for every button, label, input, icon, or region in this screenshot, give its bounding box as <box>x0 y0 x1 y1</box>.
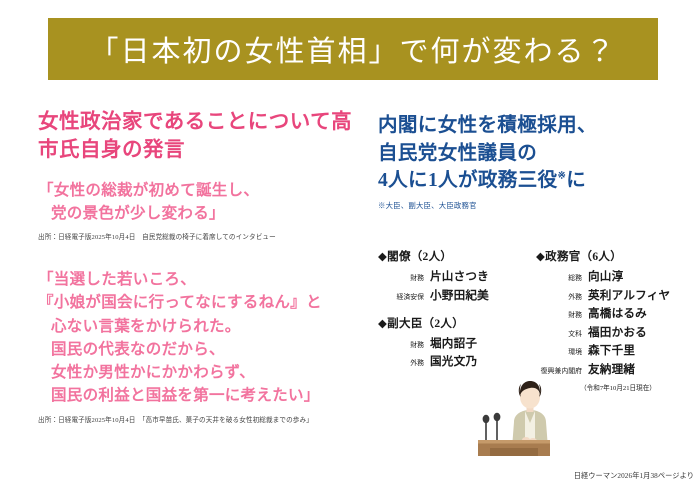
roster-row: 総務 向山淳 <box>536 268 686 284</box>
roster-row: 環境 森下千里 <box>536 342 686 358</box>
roster-group-deputy-ministers: ◆副大臣（2人） 財務 堀内詔子 外務 国光文乃 <box>378 315 528 370</box>
roster-name: 福田かおる <box>588 324 647 340</box>
right-heading-line-3: 4人に1人が政務三役※に <box>378 167 690 195</box>
right-heading-line-2: 自民党女性議員の <box>378 140 690 168</box>
infographic-page: 「日本初の女性首相」で何が変わる？ 女性政治家であることについて高市氏自身の発言… <box>0 0 700 495</box>
roster-group-cabinet-ministers: ◆閣僚（2人） 財務 片山さつき 経済安保 小野田紀美 <box>378 248 528 303</box>
roster-group-title: ◆政務官（6人） <box>536 248 686 264</box>
roster-ministry: 財務 <box>378 272 430 282</box>
roster-ministry: 復興兼内閣府 <box>536 365 588 375</box>
footnote-marker: ※ <box>558 171 567 182</box>
right-column-heading: 内閣に女性を積極採用、 自民党女性議員の 4人に1人が政務三役※に <box>378 112 690 195</box>
quote-2-line-2: 『小娘が国会に行ってなにするねん』と <box>38 291 368 314</box>
quote-2-line-3: 心ない言葉をかけられた。 <box>38 315 368 338</box>
woman-at-podium-illustration <box>470 378 590 462</box>
roster-row: 文科 福田かおる <box>536 324 686 340</box>
roster-name: 小野田紀美 <box>430 287 489 303</box>
right-heading-line-3-tail: に <box>566 170 586 191</box>
left-column-heading: 女性政治家であることについて高市氏自身の発言 <box>38 108 368 165</box>
quote-2-line-6: 国民の利益と国益を第一に考えたい」 <box>38 384 368 407</box>
roster-ministry: 経済安保 <box>378 291 430 301</box>
quote-1-source: 出所：日経電子版2025年10月4日 自民党総裁の椅子に着席してのインタビュー <box>38 231 368 241</box>
quote-1: 「女性の総裁が初めて誕生し、 党の景色が少し変わる」 <box>38 179 368 226</box>
quote-block-1: 「女性の総裁が初めて誕生し、 党の景色が少し変わる」 出所：日経電子版2025年… <box>38 179 368 242</box>
roster-row: 外務 英利アルフィヤ <box>536 287 686 303</box>
quote-2-source: 出所：日経電子版2025年10月4日 「高市早苗氏、菓子の天井を破る女性初総裁ま… <box>38 414 368 424</box>
left-column: 女性政治家であることについて高市氏自身の発言 「女性の総裁が初めて誕生し、 党の… <box>38 108 368 424</box>
right-column-footnote: ※大臣、副大臣、大臣政務官 <box>378 200 690 211</box>
roster-ministry: 環境 <box>536 346 588 356</box>
roster-name: 堀内詔子 <box>430 335 477 351</box>
source-credit: 日経ウーマン2026年1月38ページより <box>574 471 694 481</box>
roster-ministry: 外務 <box>378 357 430 367</box>
quote-2: 「当選した若いころ、 『小娘が国会に行ってなにするねん』と 心ない言葉をかけられ… <box>38 268 368 408</box>
quote-block-2: 「当選した若いころ、 『小娘が国会に行ってなにするねん』と 心ない言葉をかけられ… <box>38 268 368 424</box>
title-banner: 「日本初の女性首相」で何が変わる？ <box>48 18 658 80</box>
page-title: 「日本初の女性首相」で何が変わる？ <box>89 28 616 70</box>
roster-name: 片山さつき <box>430 268 489 284</box>
right-heading-line-1: 内閣に女性を積極採用、 <box>378 112 690 140</box>
quote-2-line-5: 女性か男性かにかかわらず、 <box>38 361 368 384</box>
quote-2-line-4: 国民の代表なのだから、 <box>38 338 368 361</box>
roster-name: 森下千里 <box>588 342 635 358</box>
right-heading-line-3-main: 4人に1人が政務三役 <box>378 170 558 191</box>
roster-name: 高橋はるみ <box>588 305 647 321</box>
roster-name: 友納理緒 <box>588 361 635 377</box>
roster-ministry: 財務 <box>378 339 430 349</box>
roster-ministry: 財務 <box>536 309 588 319</box>
roster-name: 英利アルフィヤ <box>588 287 670 303</box>
quote-2-line-1: 「当選した若いころ、 <box>38 271 196 288</box>
roster-row: 復興兼内閣府 友納理緒 <box>536 361 686 377</box>
roster-ministry: 文科 <box>536 328 588 338</box>
roster-row: 外務 国光文乃 <box>378 353 528 369</box>
roster-group-title: ◆副大臣（2人） <box>378 315 528 331</box>
right-column: 内閣に女性を積極採用、 自民党女性議員の 4人に1人が政務三役※に ※大臣、副大… <box>378 112 690 211</box>
roster-ministry: 外務 <box>536 291 588 301</box>
roster-row: 財務 片山さつき <box>378 268 528 284</box>
roster-row: 財務 高橋はるみ <box>536 305 686 321</box>
roster-name: 向山淳 <box>588 268 623 284</box>
roster-name: 国光文乃 <box>430 353 477 369</box>
roster-row: 財務 堀内詔子 <box>378 335 528 351</box>
roster-ministry: 総務 <box>536 272 588 282</box>
roster-group-title: ◆閣僚（2人） <box>378 248 528 264</box>
roster-group-parliamentary-officers: ◆政務官（6人） 総務 向山淳 外務 英利アルフィヤ 財務 高橋はるみ 文科 福… <box>536 248 686 392</box>
quote-1-line-1: 「女性の総裁が初めて誕生し、 <box>38 182 259 199</box>
quote-1-line-2: 党の景色が少し変わる」 <box>38 202 368 225</box>
roster-row: 経済安保 小野田紀美 <box>378 287 528 303</box>
